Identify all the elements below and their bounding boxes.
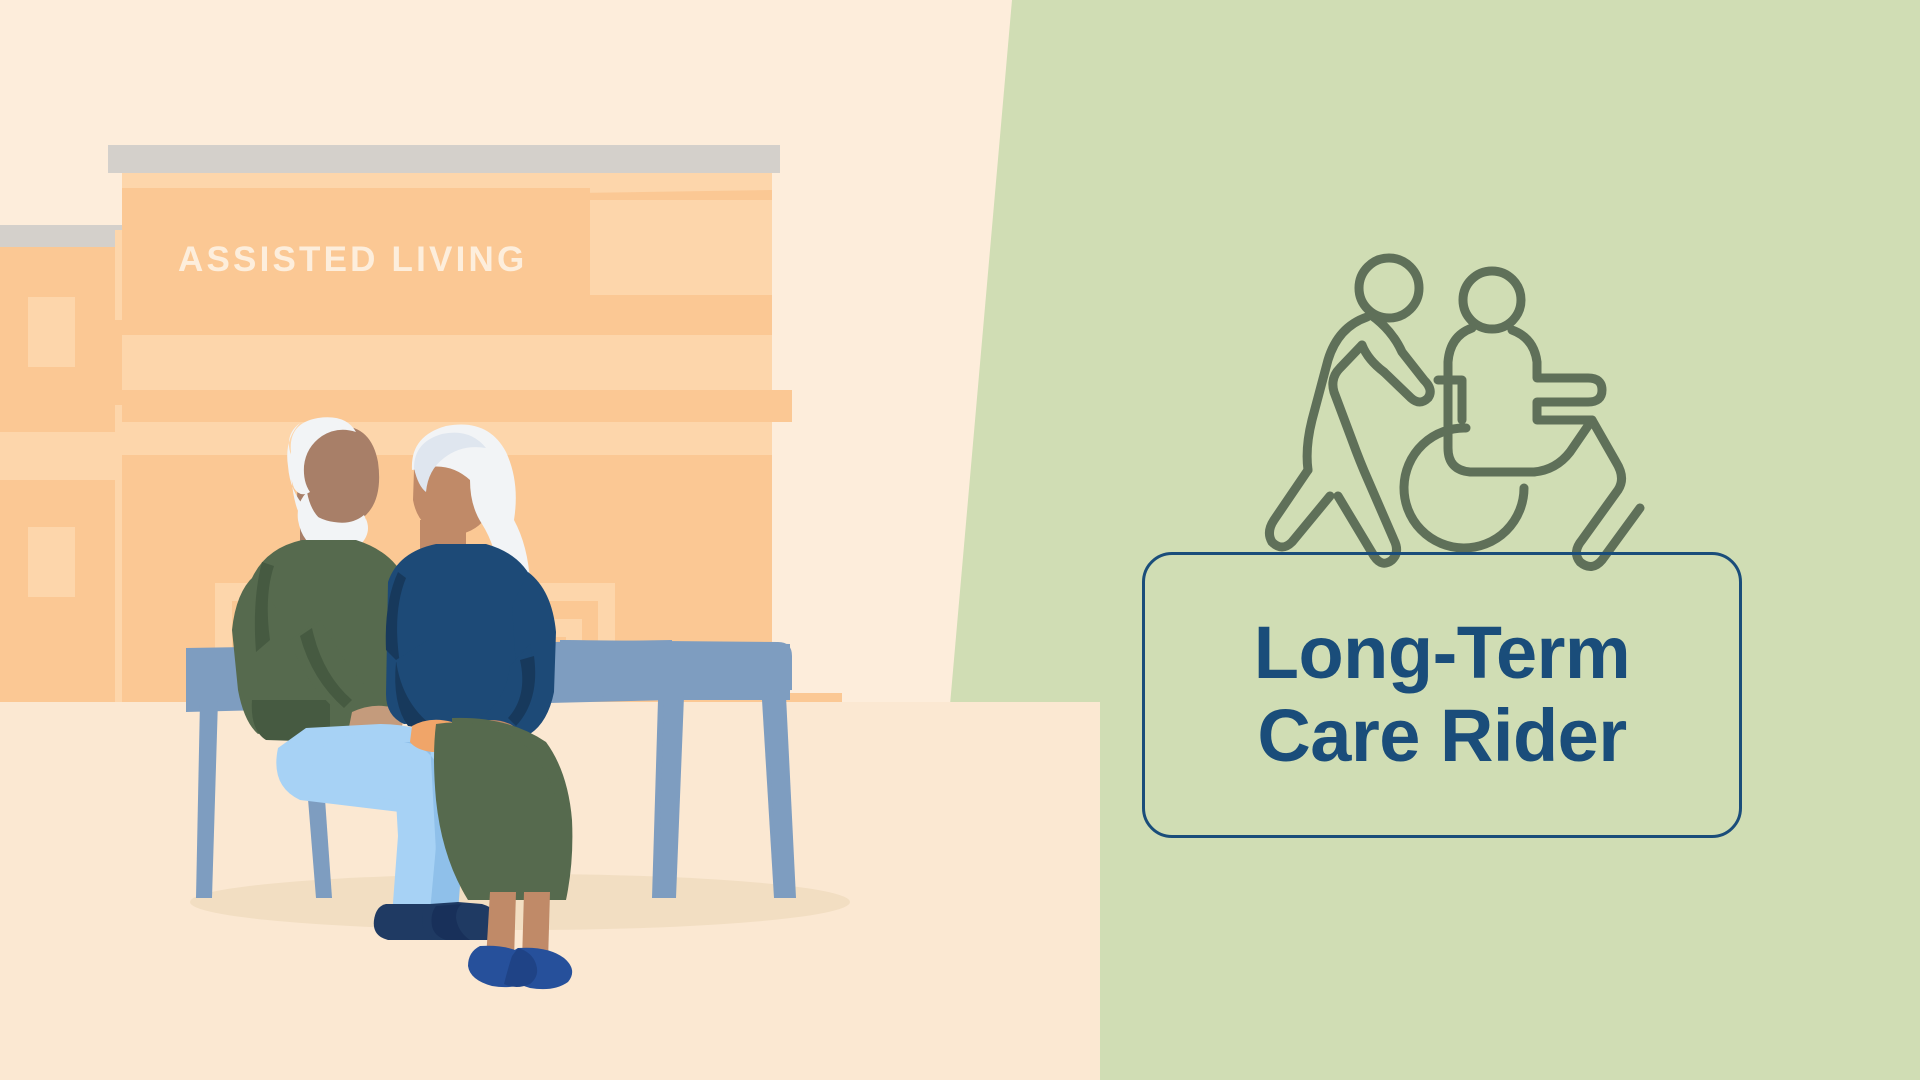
title-line-2: Care Rider [1257, 695, 1626, 778]
seated-person-head-icon [1463, 271, 1521, 329]
caregiver-head-icon [1359, 258, 1419, 318]
seated-person-arm-icon [1512, 330, 1602, 420]
slide-canvas: ASSISTED LIVING [0, 0, 1920, 1080]
caregiver-back-leg-icon [1269, 470, 1330, 547]
title-line-1: Long-Term [1254, 612, 1630, 695]
wheelchair-assist-icon [0, 0, 1920, 1080]
wheelchair-wheel-icon [1404, 428, 1524, 548]
title-card: Long-Term Care Rider [1142, 552, 1742, 838]
seated-person-legs-icon [1534, 420, 1640, 567]
caregiver-elbow-icon [1362, 345, 1384, 372]
caregiver-arm-icon [1371, 315, 1430, 402]
